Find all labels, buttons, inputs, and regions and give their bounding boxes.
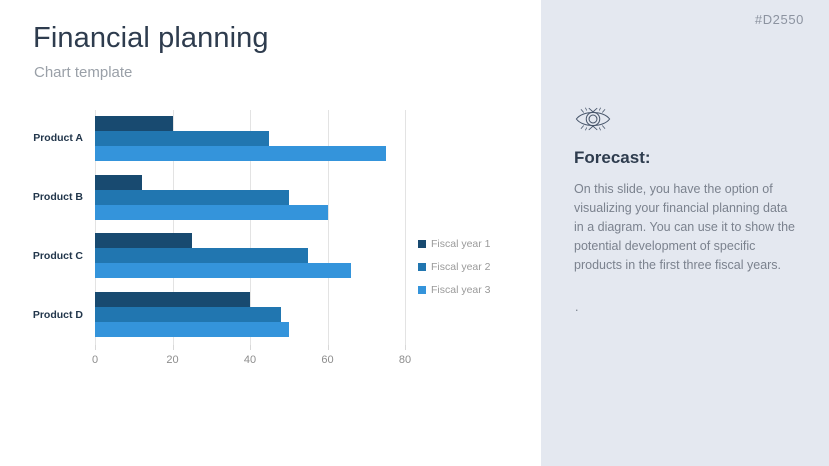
slide-canvas: Financial planning Chart template 020406… [0,0,829,466]
chart-bar [95,307,281,322]
chart-category-label: Product C [33,250,83,262]
panel-heading: Forecast: [574,148,651,168]
x-axis-tick [405,345,406,350]
chart-bar [95,263,351,278]
chart-plot-area: 020406080Product AProduct BProduct CProd… [95,110,405,345]
chart-bar [95,190,289,205]
x-axis-tick-label: 60 [321,354,333,366]
x-axis-tick-label: 80 [399,354,411,366]
x-axis-tick [328,345,329,350]
side-panel: #D2550 Forecast: On this slide, you have… [541,0,829,466]
chart-legend: Fiscal year 1Fiscal year 2Fiscal year 3 [418,236,528,305]
chart-bar [95,322,289,337]
chart-gridline [405,110,406,345]
slide-code-label: #D2550 [755,12,804,27]
eye-icon [574,103,612,135]
x-axis-tick [250,345,251,350]
chart-bar [95,146,386,161]
legend-label: Fiscal year 2 [431,261,491,273]
legend-swatch-icon [418,263,426,271]
chart-category-label: Product A [33,132,83,144]
chart-bar [95,233,192,248]
chart-bar [95,131,269,146]
page-subtitle: Chart template [34,64,132,81]
legend-label: Fiscal year 3 [431,284,491,296]
legend-item[interactable]: Fiscal year 2 [418,259,528,275]
chart-bar [95,175,142,190]
x-axis-tick-label: 40 [244,354,256,366]
chart-category-label: Product D [33,309,83,321]
chart-bar [95,292,250,307]
page-title: Financial planning [33,22,269,55]
x-axis-tick [173,345,174,350]
legend-item[interactable]: Fiscal year 3 [418,282,528,298]
legend-label: Fiscal year 1 [431,238,491,250]
panel-footnote: . [575,300,578,314]
legend-item[interactable]: Fiscal year 1 [418,236,528,252]
x-axis-tick [95,345,96,350]
x-axis-tick-label: 20 [166,354,178,366]
chart-bar [95,205,328,220]
chart-bar [95,248,308,263]
legend-swatch-icon [418,240,426,248]
legend-swatch-icon [418,286,426,294]
panel-body-text: On this slide, you have the option of vi… [574,180,799,275]
chart-category-label: Product B [33,191,83,203]
x-axis-tick-label: 0 [92,354,98,366]
chart-bar [95,116,173,131]
